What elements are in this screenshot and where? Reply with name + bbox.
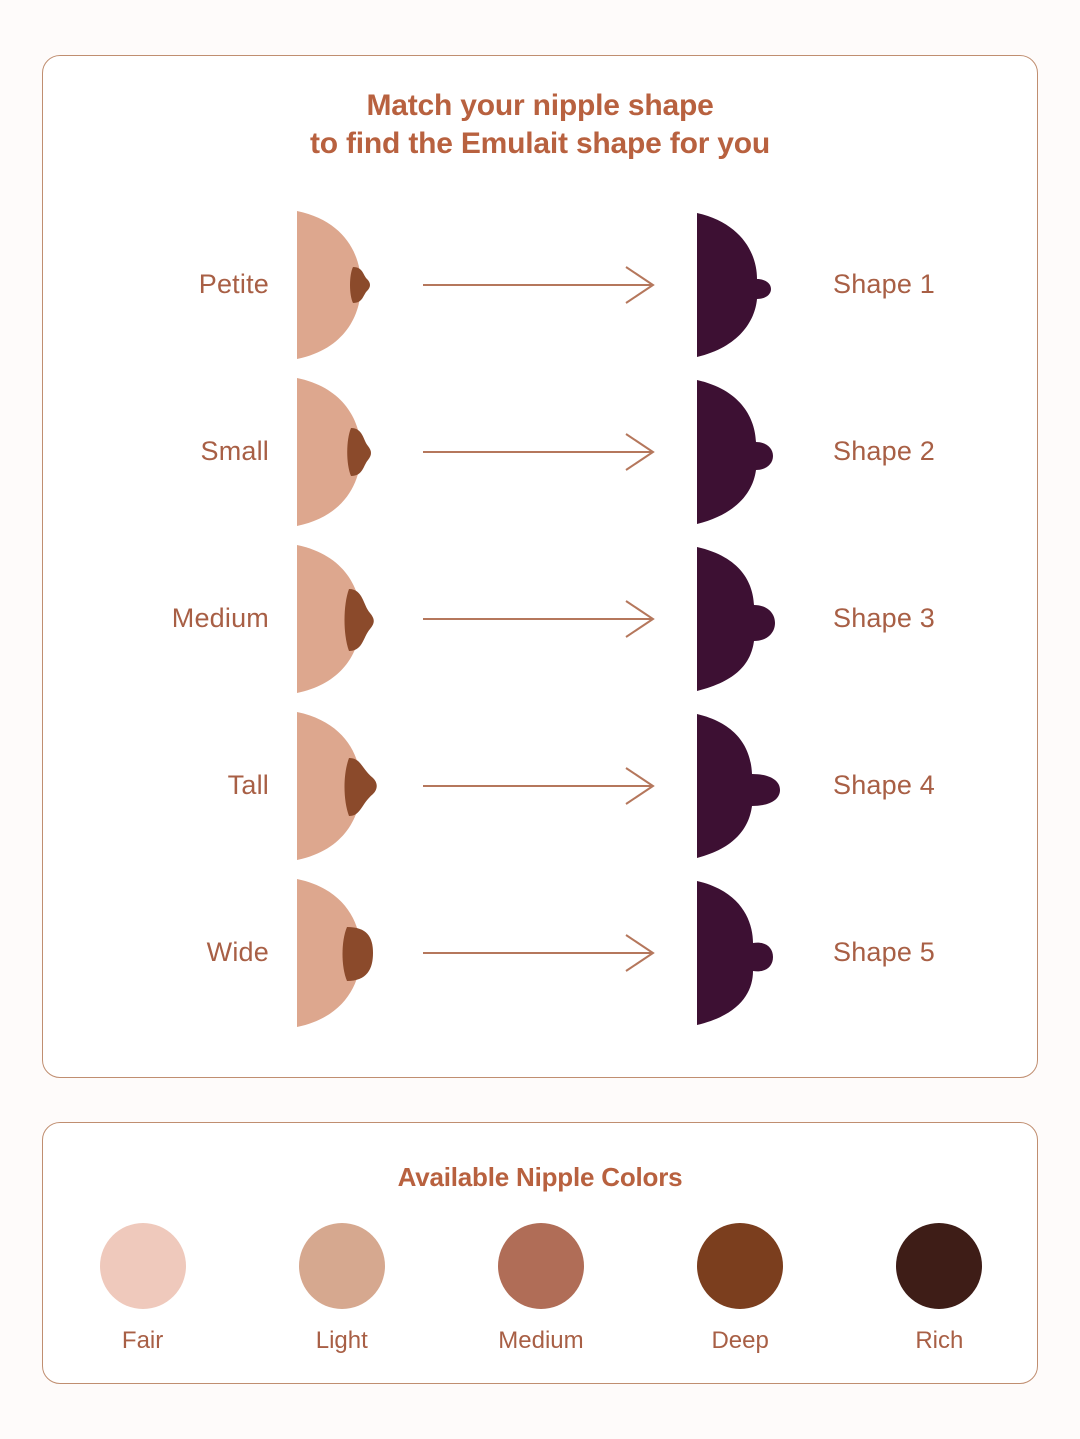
breast-profile-tall bbox=[291, 706, 391, 866]
nipple-shape-icon bbox=[691, 372, 783, 532]
swatch-dot-fair bbox=[100, 1223, 186, 1309]
arrow-right-icon bbox=[421, 933, 661, 973]
swatch-dot-deep bbox=[697, 1223, 783, 1309]
emulait-teat-shape-4 bbox=[691, 706, 801, 866]
breast-profile-petite bbox=[291, 205, 391, 365]
table-row: Tall Sh bbox=[43, 702, 1039, 869]
shape-card-title-line1: Match your nipple shape bbox=[43, 87, 1037, 125]
table-row: Medium bbox=[43, 535, 1039, 702]
shape-card-title-line2: to find the Emulait shape for you bbox=[43, 125, 1037, 163]
arrow-right-icon bbox=[421, 599, 661, 639]
swatch-label-deep: Deep bbox=[711, 1327, 768, 1355]
swatch-label-medium: Medium bbox=[498, 1327, 583, 1355]
match-arrow-3 bbox=[391, 599, 691, 639]
nipple-shape-icon bbox=[691, 706, 783, 866]
nipple-shape-icon bbox=[691, 205, 783, 365]
color-card-title: Available Nipple Colors bbox=[43, 1161, 1037, 1194]
available-colors-card: Available Nipple Colors Fair Light Mediu… bbox=[42, 1122, 1038, 1384]
shape-label-1: Shape 1 bbox=[801, 269, 1039, 300]
table-row: Wide Sh bbox=[43, 869, 1039, 1036]
size-label-medium: Medium bbox=[43, 603, 291, 634]
color-swatch-deep[interactable]: Deep bbox=[655, 1223, 825, 1355]
breast-icon bbox=[291, 372, 377, 532]
emulait-teat-shape-5 bbox=[691, 873, 801, 1033]
arrow-right-icon bbox=[421, 265, 661, 305]
match-arrow-4 bbox=[391, 766, 691, 806]
color-swatch-list: Fair Light Medium Deep Rich bbox=[43, 1223, 1039, 1355]
color-swatch-rich[interactable]: Rich bbox=[854, 1223, 1024, 1355]
nipple-shape-icon bbox=[691, 873, 783, 1033]
breast-profile-small bbox=[291, 372, 391, 532]
swatch-dot-medium bbox=[498, 1223, 584, 1309]
arrow-right-icon bbox=[421, 432, 661, 472]
size-label-wide: Wide bbox=[43, 937, 291, 968]
emulait-teat-shape-2 bbox=[691, 372, 801, 532]
swatch-label-rich: Rich bbox=[915, 1327, 963, 1355]
match-arrow-2 bbox=[391, 432, 691, 472]
shape-label-4: Shape 4 bbox=[801, 770, 1039, 801]
breast-profile-wide bbox=[291, 873, 391, 1033]
breast-icon bbox=[291, 539, 377, 699]
size-label-small: Small bbox=[43, 436, 291, 467]
swatch-dot-light bbox=[299, 1223, 385, 1309]
match-arrow-5 bbox=[391, 933, 691, 973]
shape-card-title: Match your nipple shape to find the Emul… bbox=[43, 87, 1037, 163]
emulait-teat-shape-3 bbox=[691, 539, 801, 699]
breast-icon bbox=[291, 205, 377, 365]
emulait-teat-shape-1 bbox=[691, 205, 801, 365]
breast-profile-medium bbox=[291, 539, 391, 699]
color-swatch-fair[interactable]: Fair bbox=[58, 1223, 228, 1355]
color-swatch-medium[interactable]: Medium bbox=[456, 1223, 626, 1355]
match-arrow-1 bbox=[391, 265, 691, 305]
breast-icon bbox=[291, 873, 377, 1033]
nipple-shape-icon bbox=[691, 539, 783, 699]
shape-match-card: Match your nipple shape to find the Emul… bbox=[42, 55, 1038, 1078]
swatch-label-light: Light bbox=[316, 1327, 368, 1355]
infographic-page: Match your nipple shape to find the Emul… bbox=[0, 0, 1080, 1439]
swatch-label-fair: Fair bbox=[122, 1327, 163, 1355]
shape-label-5: Shape 5 bbox=[801, 937, 1039, 968]
table-row: Small S bbox=[43, 368, 1039, 535]
breast-icon bbox=[291, 706, 377, 866]
shape-label-2: Shape 2 bbox=[801, 436, 1039, 467]
arrow-right-icon bbox=[421, 766, 661, 806]
table-row: Petite bbox=[43, 201, 1039, 368]
size-label-petite: Petite bbox=[43, 269, 291, 300]
shape-label-3: Shape 3 bbox=[801, 603, 1039, 634]
color-swatch-light[interactable]: Light bbox=[257, 1223, 427, 1355]
size-label-tall: Tall bbox=[43, 770, 291, 801]
shape-row-list: Petite bbox=[43, 201, 1039, 1036]
swatch-dot-rich bbox=[896, 1223, 982, 1309]
